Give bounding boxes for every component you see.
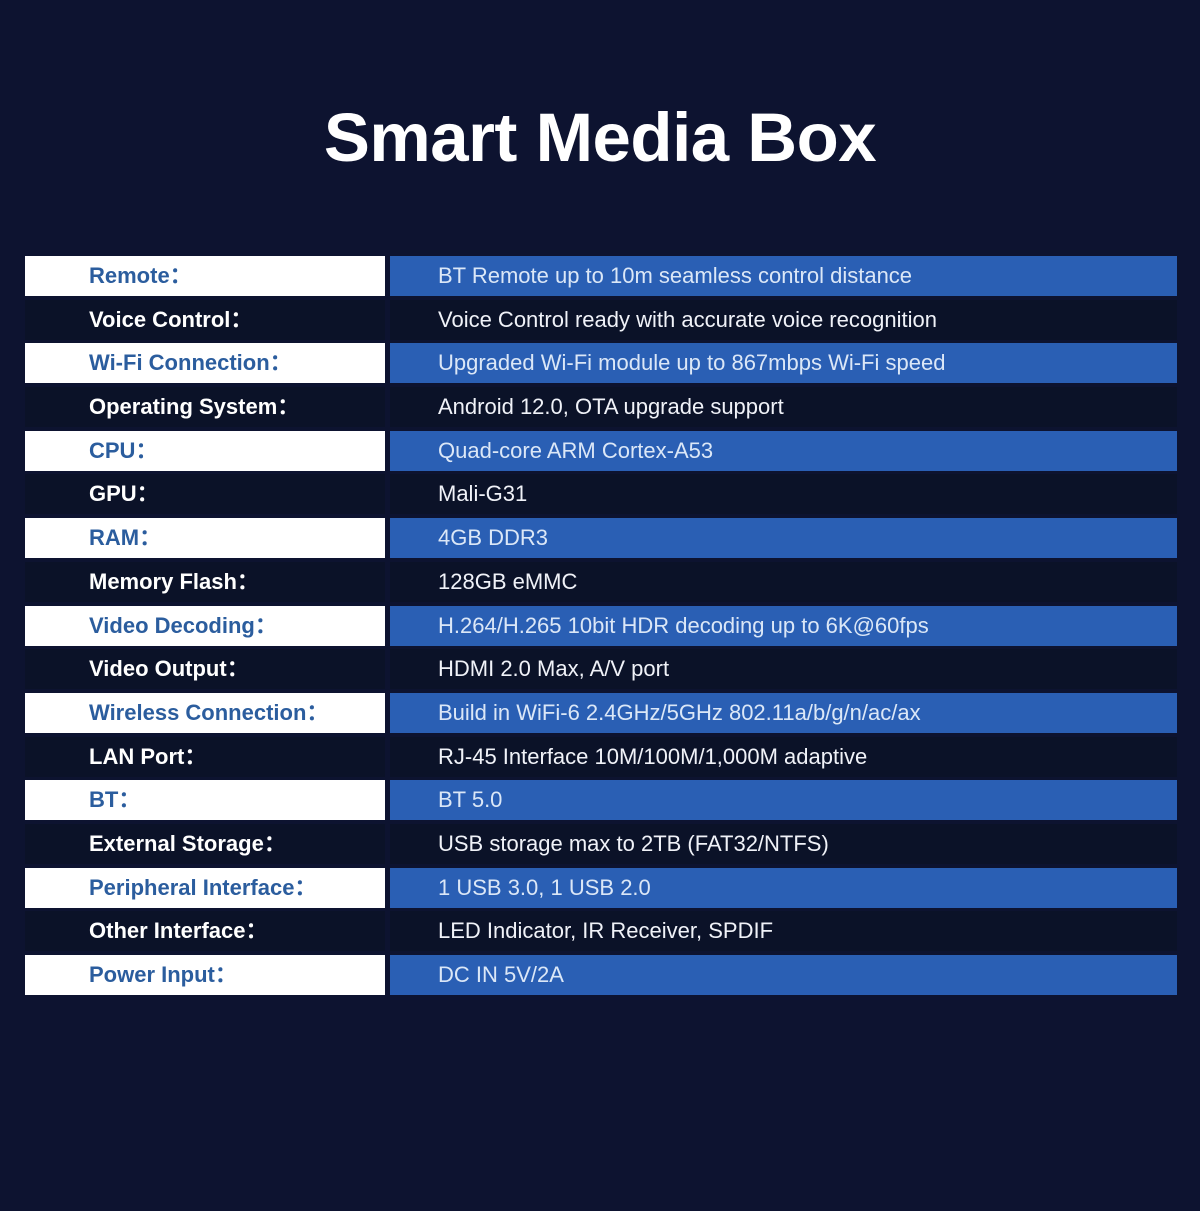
table-row: Wireless Connection：Build in WiFi-6 2.4G… [25,693,1177,733]
spec-value: Voice Control ready with accurate voice … [390,300,1177,340]
spec-label: LAN Port： [25,737,385,777]
table-row: Remote：BT Remote up to 10m seamless cont… [25,256,1177,296]
spec-label: Power Input： [25,955,385,995]
table-row: GPU：Mali-G31 [25,474,1177,514]
spec-value: DC IN 5V/2A [390,955,1177,995]
table-row: LAN Port：RJ-45 Interface 10M/100M/1,000M… [25,737,1177,777]
spec-label: Wireless Connection： [25,693,385,733]
spec-label: GPU： [25,474,385,514]
spec-value: 1 USB 3.0, 1 USB 2.0 [390,868,1177,908]
spec-value: LED Indicator, IR Receiver, SPDIF [390,911,1177,951]
table-row: Video Decoding：H.264/H.265 10bit HDR dec… [25,606,1177,646]
spec-label: Video Decoding： [25,606,385,646]
table-row: Voice Control：Voice Control ready with a… [25,300,1177,340]
spec-label: CPU： [25,431,385,471]
table-row: Wi-Fi Connection：Upgraded Wi-Fi module u… [25,343,1177,383]
spec-value: H.264/H.265 10bit HDR decoding up to 6K@… [390,606,1177,646]
table-row: RAM：4GB DDR3 [25,518,1177,558]
table-row: CPU：Quad-core ARM Cortex-A53 [25,431,1177,471]
spec-value: BT 5.0 [390,780,1177,820]
table-row: Other Interface：LED Indicator, IR Receiv… [25,911,1177,951]
spec-value: Build in WiFi-6 2.4GHz/5GHz 802.11a/b/g/… [390,693,1177,733]
table-row: Operating System：Android 12.0, OTA upgra… [25,387,1177,427]
spec-label: Peripheral Interface： [25,868,385,908]
spec-value: RJ-45 Interface 10M/100M/1,000M adaptive [390,737,1177,777]
spec-value: Android 12.0, OTA upgrade support [390,387,1177,427]
spec-label: Other Interface： [25,911,385,951]
specification-table: Remote：BT Remote up to 10m seamless cont… [25,256,1177,999]
spec-label: BT： [25,780,385,820]
spec-label: Wi-Fi Connection： [25,343,385,383]
spec-label: External Storage： [25,824,385,864]
spec-value: USB storage max to 2TB (FAT32/NTFS) [390,824,1177,864]
spec-label: Memory Flash： [25,562,385,602]
table-row: External Storage：USB storage max to 2TB … [25,824,1177,864]
spec-label: Video Output： [25,649,385,689]
spec-value: Quad-core ARM Cortex-A53 [390,431,1177,471]
spec-value: HDMI 2.0 Max, A/V port [390,649,1177,689]
spec-label: Operating System： [25,387,385,427]
spec-value: Upgraded Wi-Fi module up to 867mbps Wi-F… [390,343,1177,383]
spec-value: 4GB DDR3 [390,518,1177,558]
table-row: Memory Flash：128GB eMMC [25,562,1177,602]
table-row: Peripheral Interface：1 USB 3.0, 1 USB 2.… [25,868,1177,908]
spec-label: Voice Control： [25,300,385,340]
table-row: Video Output：HDMI 2.0 Max, A/V port [25,649,1177,689]
table-row: Power Input：DC IN 5V/2A [25,955,1177,995]
spec-label: Remote： [25,256,385,296]
spec-value: 128GB eMMC [390,562,1177,602]
spec-value: Mali-G31 [390,474,1177,514]
page-title: Smart Media Box [0,103,1200,172]
spec-value: BT Remote up to 10m seamless control dis… [390,256,1177,296]
table-row: BT：BT 5.0 [25,780,1177,820]
spec-label: RAM： [25,518,385,558]
